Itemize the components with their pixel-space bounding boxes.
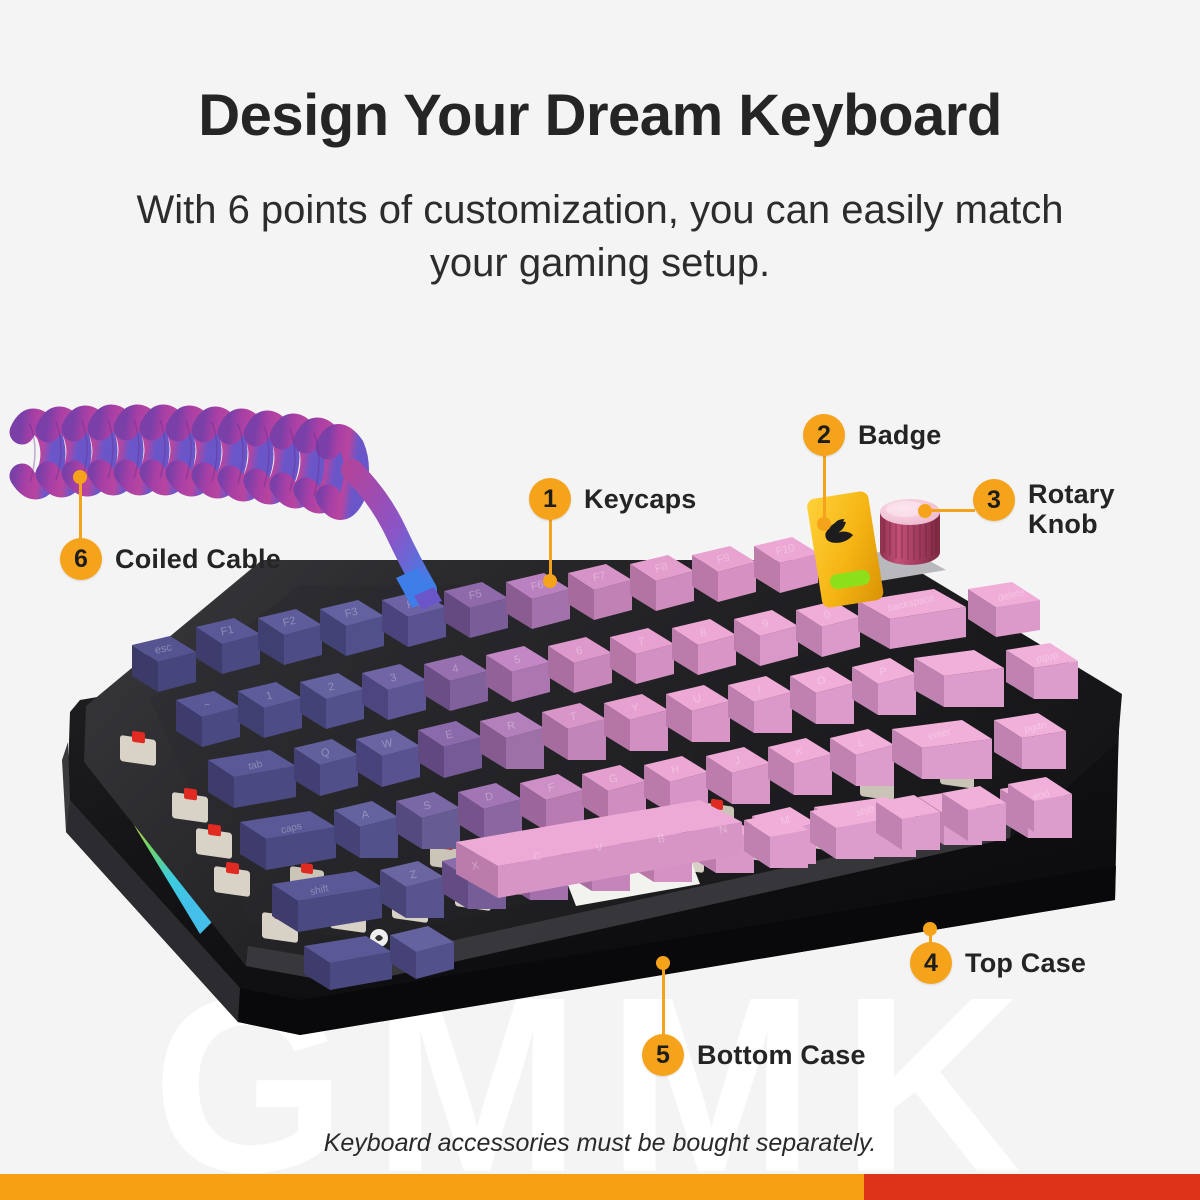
leader-line-1 (549, 518, 552, 580)
callout-5-bottom-case[interactable]: 5 Bottom Case (642, 1034, 866, 1076)
callout-3-label: Rotary Knob (1028, 479, 1115, 539)
footer-bar-orange (0, 1174, 864, 1200)
callout-3-number: 3 (973, 479, 1015, 521)
callout-5-label: Bottom Case (697, 1040, 866, 1070)
page-subtitle: With 6 points of customization, you can … (130, 184, 1070, 290)
callout-4-label: Top Case (965, 948, 1086, 978)
leader-line-3 (925, 509, 975, 512)
leader-line-6 (79, 476, 82, 540)
leader-line-5 (662, 962, 665, 1042)
leader-line-2 (823, 455, 826, 523)
callout-4-number: 4 (910, 942, 952, 984)
callout-5-number: 5 (642, 1034, 684, 1076)
callout-2-number: 2 (803, 414, 845, 456)
page-title: Design Your Dream Keyboard (0, 82, 1200, 149)
callout-2-badge[interactable]: 2 Badge (803, 414, 942, 456)
callout-1-number: 1 (529, 478, 571, 520)
callout-6-number: 6 (60, 538, 102, 580)
leader-dot-6 (73, 470, 87, 484)
leader-dot-1 (543, 574, 557, 588)
leader-dot-3 (918, 504, 932, 518)
disclaimer-text: Keyboard accessories must be bought sepa… (0, 1129, 1200, 1158)
callout-2-label: Badge (858, 420, 942, 450)
callout-6-coiled-cable[interactable]: 6 Coiled Cable (60, 538, 281, 580)
callout-1-keycaps[interactable]: 1 Keycaps (529, 478, 696, 520)
callout-3-rotary-knob[interactable]: 3 Rotary Knob (973, 479, 1115, 539)
callout-4-top-case[interactable]: 4 Top Case (910, 942, 1086, 984)
callout-1-label: Keycaps (584, 484, 696, 514)
footer-bar-red (864, 1174, 1200, 1200)
leader-dot-4 (923, 922, 937, 936)
keyboard-illustration: esc F1 F2 F3 F4 F5 F6 F7 F8 F9 F10 F11 F… (0, 0, 1200, 1200)
callout-6-label: Coiled Cable (115, 544, 281, 574)
footer-color-bar (0, 1174, 1200, 1200)
leader-dot-2 (817, 517, 831, 531)
infographic-canvas: GMMK Design Your Dream Keyboard With 6 p… (0, 0, 1200, 1200)
leader-dot-5 (656, 956, 670, 970)
